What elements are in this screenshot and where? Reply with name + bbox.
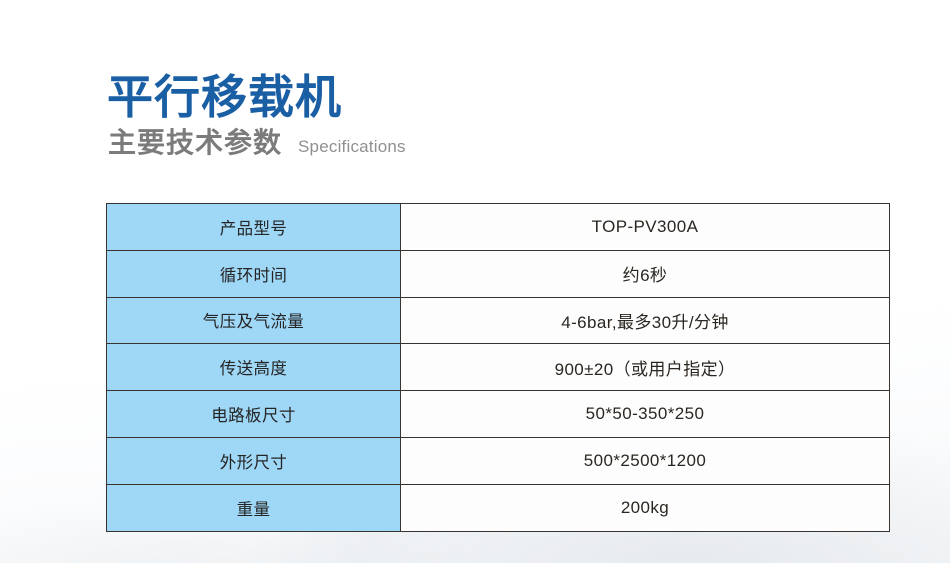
table-row: 产品型号 TOP-PV300A: [107, 204, 890, 251]
spec-label: 气压及气流量: [107, 297, 401, 344]
table-row: 气压及气流量 4-6bar,最多30升/分钟: [107, 297, 890, 344]
section-heading-cn: 主要技术参数: [108, 126, 282, 160]
spec-label: 循环时间: [107, 250, 401, 297]
specifications-table: 产品型号 TOP-PV300A 循环时间 约6秒 气压及气流量 4-6bar,最…: [106, 203, 890, 532]
section-heading-en: Specifications: [298, 136, 406, 158]
table-row: 外形尺寸 500*2500*1200: [107, 437, 890, 484]
specifications-table-body: 产品型号 TOP-PV300A 循环时间 约6秒 气压及气流量 4-6bar,最…: [107, 204, 890, 532]
page-title: 平行移载机: [107, 69, 342, 125]
table-row: 传送高度 900±20（或用户指定）: [107, 344, 890, 391]
table-row: 电路板尺寸 50*50-350*250: [107, 391, 890, 438]
spec-value: 4-6bar,最多30升/分钟: [401, 297, 890, 344]
section-heading: 主要技术参数 Specifications: [108, 126, 406, 160]
spec-label: 电路板尺寸: [107, 391, 401, 438]
spec-value: TOP-PV300A: [401, 204, 890, 251]
spec-value: 900±20（或用户指定）: [401, 344, 890, 391]
table-row: 重量 200kg: [107, 484, 890, 531]
table-row: 循环时间 约6秒: [107, 250, 890, 297]
spec-label: 传送高度: [107, 344, 401, 391]
spec-value: 约6秒: [401, 250, 890, 297]
spec-label: 外形尺寸: [107, 437, 401, 484]
spec-value: 500*2500*1200: [401, 437, 890, 484]
spec-value: 200kg: [401, 484, 890, 531]
spec-value: 50*50-350*250: [401, 391, 890, 438]
spec-label: 产品型号: [107, 204, 401, 251]
spec-label: 重量: [107, 484, 401, 531]
